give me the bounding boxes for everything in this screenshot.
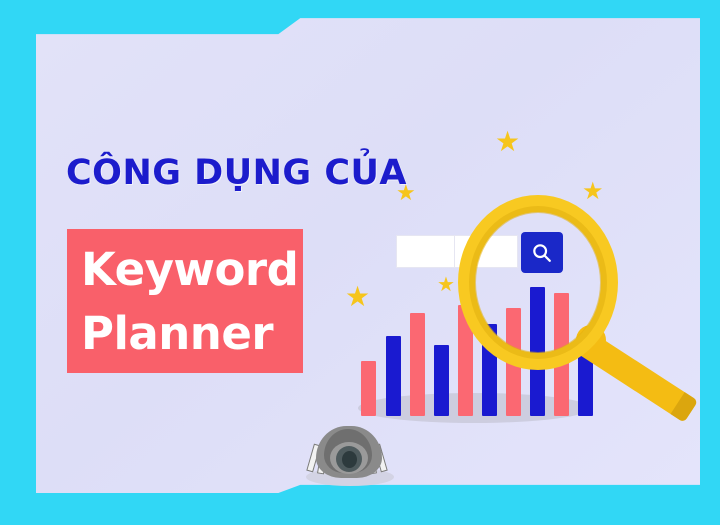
keyword-highlight-box: Keyword Planner bbox=[67, 229, 303, 373]
keyword-line-2: Planner bbox=[81, 302, 303, 366]
page-title: CÔNG DỤNG CỦA bbox=[66, 156, 407, 191]
keyword-line-1: Keyword bbox=[81, 238, 303, 302]
poster-canvas: CÔNG DỤNG CỦA Keyword Planner ★★★★★★ bbox=[0, 0, 720, 525]
